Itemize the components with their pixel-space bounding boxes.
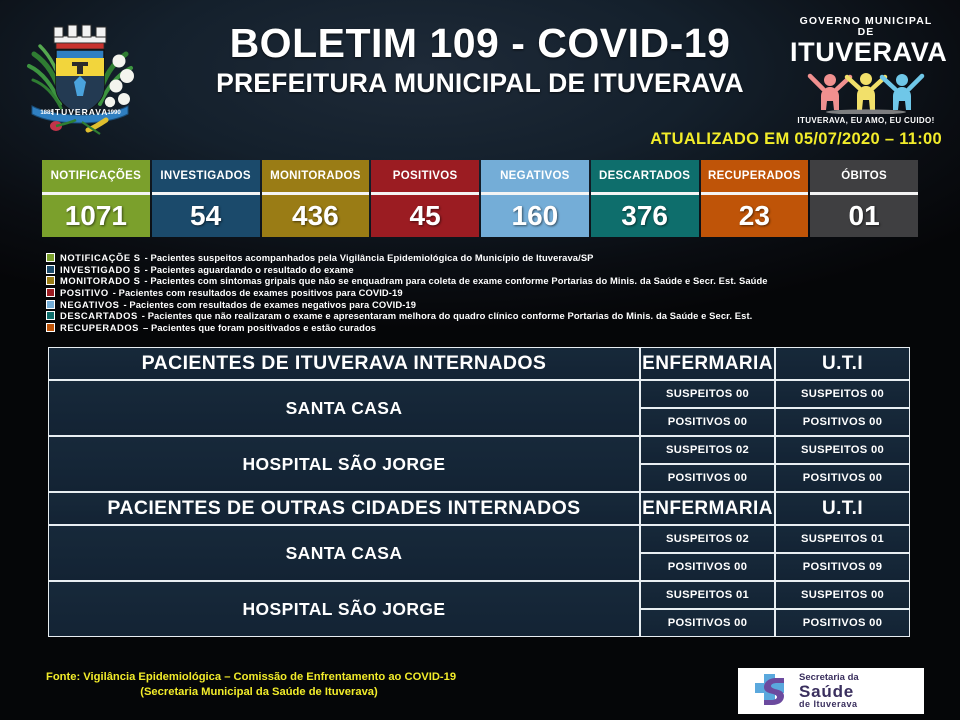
stat-column: NEGATIVOS160: [481, 160, 589, 237]
stat-column: ÓBITOS01: [810, 160, 918, 237]
column-header-uti: U.T.I: [775, 347, 910, 380]
table-row: HOSPITAL SÃO JORGESUSPEITOS 01SUSPEITOS …: [48, 581, 910, 609]
hospital-name: SANTA CASA: [48, 380, 640, 436]
boletim-page: ITUVERAVA 1885 1990 BOLETIM 109 - COVID-…: [0, 0, 960, 720]
legend-description: - Pacientes com sintomas gripais que não…: [144, 275, 767, 286]
table-row: SANTA CASASUSPEITOS 02SUSPEITOS 01: [48, 525, 910, 553]
legend-term: RECUPERADOS: [60, 322, 139, 333]
legend-description: - Pacientes com resultados de exames pos…: [113, 287, 403, 298]
legend-description: - Pacientes com resultados de exames neg…: [123, 299, 416, 310]
legend-term: POSITIVO: [60, 287, 109, 298]
cell-enfermaria: SUSPEITOS 00: [640, 380, 775, 408]
cell-enfermaria: SUSPEITOS 02: [640, 436, 775, 464]
legend-color-swatch: [46, 265, 55, 274]
stat-value: 160: [481, 195, 589, 237]
legend-color-swatch: [46, 323, 55, 332]
source-line-2: (Secretaria Municipal da Saúde de Ituver…: [46, 685, 526, 700]
legend-description: - Pacientes aguardando o resultado do ex…: [145, 264, 354, 275]
legend-item: DESCARTADOS- Pacientes que não realizara…: [46, 310, 946, 322]
saude-logo-line3: de Ituverava: [799, 700, 859, 709]
column-header-enfermaria: ENFERMARIA: [640, 347, 775, 380]
legend-description: - Pacientes que não realizaram o exame e…: [142, 310, 753, 321]
legend-color-swatch: [46, 276, 55, 285]
secretaria-saude-logo: Secretaria da Saúde de Ituverava: [738, 668, 924, 714]
stat-label: INVESTIGADOS: [152, 160, 260, 192]
source-line-1: Fonte: Vigilância Epidemiológica – Comis…: [46, 670, 526, 685]
legend-item: INVESTIGADO S- Pacientes aguardando o re…: [46, 264, 946, 276]
cell-uti: SUSPEITOS 00: [775, 581, 910, 609]
cell-enfermaria: POSITIVOS 00: [640, 609, 775, 637]
column-header-uti: U.T.I: [775, 492, 910, 525]
stat-value: 23: [701, 195, 809, 237]
cell-enfermaria: SUSPEITOS 02: [640, 525, 775, 553]
gov-logo-line2: ITUVERAVA: [790, 38, 942, 66]
cell-enfermaria: POSITIVOS 00: [640, 553, 775, 581]
hospital-occupancy-table: PACIENTES DE ITUVERAVA INTERNADOSENFERMA…: [48, 347, 910, 637]
gov-logo-figures-icon: [790, 68, 942, 114]
legend-description: - Pacientes suspeitos acompanhados pela …: [145, 252, 594, 263]
hospital-name: HOSPITAL SÃO JORGE: [48, 436, 640, 492]
stat-value: 1071: [42, 195, 150, 237]
stat-label: NOTIFICAÇÕES: [42, 160, 150, 192]
table-row: HOSPITAL SÃO JORGESUSPEITOS 02SUSPEITOS …: [48, 436, 910, 464]
legend-color-swatch: [46, 288, 55, 297]
gov-logo-tagline: ITUVERAVA, EU AMO, EU CUIDO!: [790, 116, 942, 125]
stat-column: RECUPERADOS23: [701, 160, 809, 237]
legend-item: POSITIVO- Pacientes com resultados de ex…: [46, 287, 946, 299]
stat-label: DESCARTADOS: [591, 160, 699, 192]
stat-value: 436: [262, 195, 370, 237]
stat-value: 376: [591, 195, 699, 237]
hospital-name: HOSPITAL SÃO JORGE: [48, 581, 640, 637]
stat-column: INVESTIGADOS54: [152, 160, 260, 237]
legend-term: MONITORADO S: [60, 275, 140, 286]
gov-logo-line1: GOVERNO MUNICIPAL DE: [790, 16, 942, 37]
saude-logo-line2: Saúde: [799, 683, 859, 700]
cell-uti: POSITIVOS 00: [775, 464, 910, 492]
legend-description: – Pacientes que foram positivados e estã…: [143, 322, 376, 333]
cell-uti: SUSPEITOS 00: [775, 436, 910, 464]
legend-term: DESCARTADOS: [60, 310, 138, 321]
cell-uti: POSITIVOS 00: [775, 408, 910, 436]
stat-label: RECUPERADOS: [701, 160, 809, 192]
legend-item: NOTIFICAÇÕE S- Pacientes suspeitos acomp…: [46, 252, 946, 264]
stat-value: 01: [810, 195, 918, 237]
legend-color-swatch: [46, 300, 55, 309]
title-block: BOLETIM 109 - COVID-19 PREFEITURA MUNICI…: [150, 22, 810, 99]
ituverava-coat-of-arms-icon: ITUVERAVA 1885 1990: [20, 14, 140, 139]
stat-value: 54: [152, 195, 260, 237]
stat-column: MONITORADOS436: [262, 160, 370, 237]
table-section-header-row: PACIENTES DE ITUVERAVA INTERNADOSENFERMA…: [48, 347, 910, 380]
hospital-name: SANTA CASA: [48, 525, 640, 581]
stat-label: ÓBITOS: [810, 160, 918, 192]
health-cross-icon: [752, 672, 792, 711]
legend-term: INVESTIGADO S: [60, 264, 141, 275]
legend-color-swatch: [46, 311, 55, 320]
stat-column: POSITIVOS45: [371, 160, 479, 237]
source-note: Fonte: Vigilância Epidemiológica – Comis…: [46, 670, 526, 700]
stats-bar: NOTIFICAÇÕES1071INVESTIGADOS54MONITORADO…: [42, 160, 918, 237]
cell-uti: SUSPEITOS 01: [775, 525, 910, 553]
table-section-header-row: PACIENTES DE OUTRAS CIDADES INTERNADOSEN…: [48, 492, 910, 525]
table-row: SANTA CASASUSPEITOS 00SUSPEITOS 00: [48, 380, 910, 408]
legend-list: NOTIFICAÇÕE S- Pacientes suspeitos acomp…: [46, 252, 946, 333]
cell-enfermaria: POSITIVOS 00: [640, 464, 775, 492]
stat-label: MONITORADOS: [262, 160, 370, 192]
governo-municipal-logo: GOVERNO MUNICIPAL DE ITUVERAVA: [790, 16, 942, 126]
cell-enfermaria: POSITIVOS 00: [640, 408, 775, 436]
column-header-enfermaria: ENFERMARIA: [640, 492, 775, 525]
legend-item: RECUPERADOS– Pacientes que foram positiv…: [46, 322, 946, 334]
last-updated-label: ATUALIZADO EM 05/07/2020 – 11:00: [650, 130, 942, 149]
cell-enfermaria: SUSPEITOS 01: [640, 581, 775, 609]
cell-uti: SUSPEITOS 00: [775, 380, 910, 408]
page-subtitle: PREFEITURA MUNICIPAL DE ITUVERAVA: [150, 68, 810, 99]
section-title: PACIENTES DE OUTRAS CIDADES INTERNADOS: [48, 492, 640, 525]
svg-text:1990: 1990: [107, 110, 121, 116]
legend-item: NEGATIVOS- Pacientes com resultados de e…: [46, 298, 946, 310]
page-header: ITUVERAVA 1885 1990 BOLETIM 109 - COVID-…: [0, 0, 960, 150]
cell-uti: POSITIVOS 00: [775, 609, 910, 637]
stat-value: 45: [371, 195, 479, 237]
legend-color-swatch: [46, 253, 55, 262]
section-title: PACIENTES DE ITUVERAVA INTERNADOS: [48, 347, 640, 380]
legend-term: NOTIFICAÇÕE S: [60, 252, 141, 263]
stat-label: NEGATIVOS: [481, 160, 589, 192]
svg-text:ITUVERAVA: ITUVERAVA: [52, 107, 109, 117]
stat-column: DESCARTADOS376: [591, 160, 699, 237]
stat-label: POSITIVOS: [371, 160, 479, 192]
legend-item: MONITORADO S- Pacientes com sintomas gri…: [46, 275, 946, 287]
cell-uti: POSITIVOS 09: [775, 553, 910, 581]
legend-term: NEGATIVOS: [60, 299, 119, 310]
stat-column: NOTIFICAÇÕES1071: [42, 160, 150, 237]
page-title: BOLETIM 109 - COVID-19: [150, 22, 810, 65]
svg-text:1885: 1885: [40, 110, 54, 116]
